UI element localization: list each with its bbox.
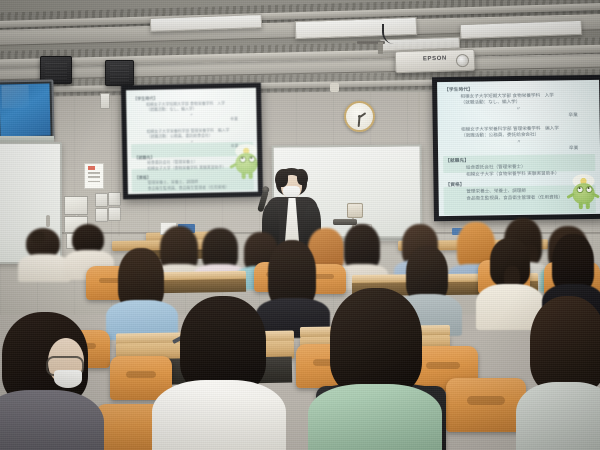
- frog-leg: [242, 172, 246, 179]
- lecture-hall-photo: EPSON 【学生時代】 相模女子大学短期大学部 食物栄養学科 入学: [0, 0, 600, 450]
- wall-clock: [344, 101, 375, 132]
- notice-accent: [88, 166, 95, 169]
- ceiling-speaker: [105, 60, 134, 86]
- slide-surface-right: 【学生時代】 相模女子大学短期大学部 食物栄養学科 入学 （就職活動：なし、編入…: [437, 80, 600, 216]
- light-switch-panel[interactable]: [108, 192, 121, 206]
- frog-mascot-icon: [231, 144, 258, 181]
- frog-pupil: [588, 187, 590, 189]
- clock-center-pin: [358, 115, 361, 118]
- recessed-panel-light: [295, 17, 418, 39]
- chair[interactable]: [446, 378, 526, 432]
- student-back-1: [18, 228, 68, 276]
- student-top: [308, 384, 442, 450]
- student-top: [516, 382, 600, 450]
- student-top: [18, 254, 70, 282]
- frog-leg: [579, 202, 583, 209]
- light-switch-panel[interactable]: [108, 207, 121, 221]
- mic-head-icon: [261, 185, 270, 194]
- frog-pupil: [579, 187, 581, 189]
- projector-mount: [378, 42, 383, 54]
- cabinet-handle[interactable]: [46, 215, 50, 227]
- student-top: [0, 390, 104, 450]
- student-face-mask: [54, 370, 82, 388]
- frog-leg: [586, 202, 590, 209]
- podium-microphone[interactable]: [347, 203, 363, 218]
- projection-screen-right: 【学生時代】 相模女子大学短期大学部 食物栄養学科 入学 （就職活動：なし、編入…: [432, 75, 600, 221]
- frog-pupil: [250, 157, 252, 159]
- student-front-left: [0, 312, 118, 450]
- wall-monitor[interactable]: [0, 79, 55, 140]
- student-front-center: [156, 296, 286, 450]
- student-hair: [330, 288, 422, 394]
- student-front-right: [316, 288, 440, 450]
- recessed-panel-light: [460, 20, 582, 39]
- frog-pupil: [241, 157, 243, 159]
- monitor-glare: [2, 85, 29, 108]
- student-hair: [180, 296, 266, 392]
- notice-line: [88, 181, 101, 183]
- frog-mascot-icon: [568, 174, 598, 210]
- projection-screen-left: 【学生時代】 相模女子大学短期大学部 食物栄養学科 入学 （就職活動：なし、編入…: [121, 83, 263, 200]
- presenter-hair-side: [297, 169, 308, 185]
- student-hair: [530, 296, 600, 392]
- frog-leg: [249, 172, 253, 179]
- ceiling-projector: EPSON: [395, 49, 476, 74]
- notice-line: [88, 176, 101, 178]
- wall-fixture: [330, 83, 339, 92]
- student-white-top: [152, 380, 286, 450]
- student-front-far-right: [520, 296, 600, 450]
- sign-board: [64, 196, 88, 215]
- light-switch-panel[interactable]: [95, 193, 108, 207]
- presenter-hair-side: [275, 169, 288, 187]
- slide-surface-left: 【学生時代】 相模女子大学短期大学部 食物栄養学科 入学 （就職活動：なし、編入…: [126, 88, 258, 194]
- projector-lens-icon: [456, 54, 469, 67]
- light-switch-panel[interactable]: [95, 208, 108, 222]
- wall-outlet[interactable]: [100, 93, 110, 109]
- wall-notice: [84, 163, 104, 189]
- notice-line: [88, 172, 101, 174]
- student-hair-bun: [31, 231, 45, 244]
